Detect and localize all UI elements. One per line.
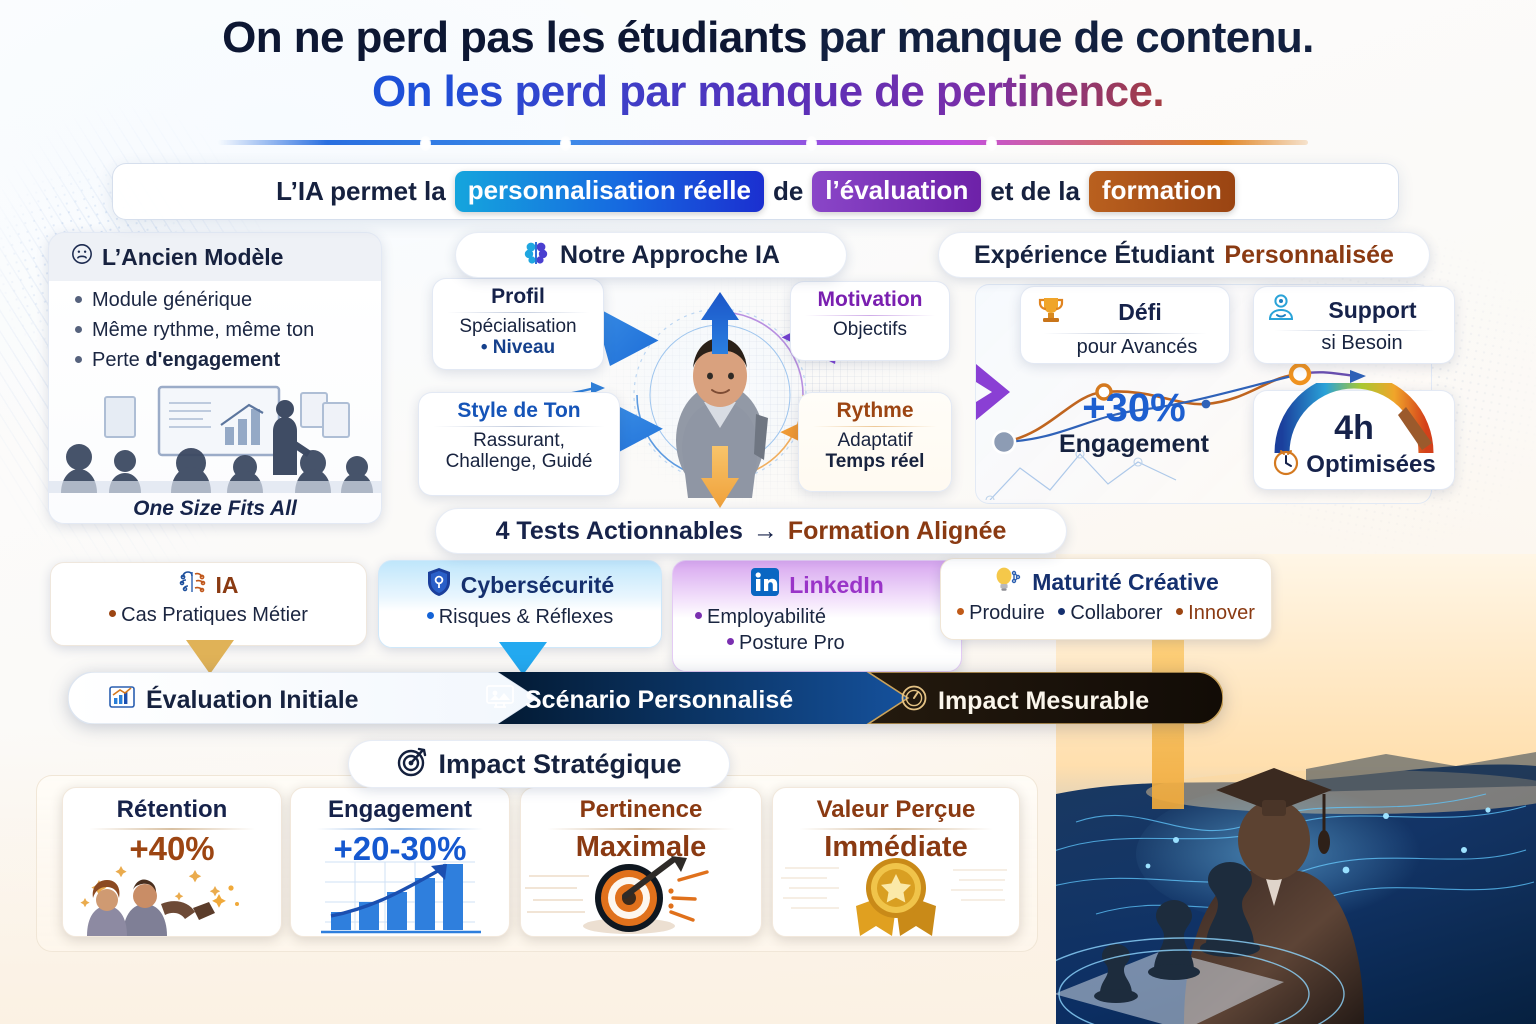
- list-item: Même rythme, même ton: [75, 319, 381, 342]
- approach-card-style-title: Style de Ton: [419, 399, 619, 423]
- kpi-card-valeur: Valeur Perçue Immédiate: [772, 787, 1020, 937]
- domain-card-cybersecurite: Cybersécurité Risques & Réflexes: [378, 560, 662, 648]
- domain-card-maturite-header: Maturité Créative: [941, 565, 1271, 599]
- approach-card-motivation-title: Motivation: [791, 288, 949, 312]
- bullet-dot: [695, 612, 702, 619]
- domain-card-linkedin-item-row-1: Posture Pro: [673, 632, 961, 655]
- old-model-header: L’Ancien Modèle: [49, 233, 381, 281]
- old-model-bullet-2: Perte: [92, 349, 145, 371]
- experience-title-accent: Personnalisée: [1224, 241, 1394, 270]
- target-arrow-art: [521, 854, 761, 936]
- approach-card-rythme-title: Rythme: [799, 399, 951, 423]
- experience-hours-card: 4h Optimisées: [1253, 390, 1455, 490]
- old-model-bullet-0: Module générique: [92, 289, 252, 312]
- tests-banner-pill: 4 Tests Actionnables → Formation Alignée: [435, 508, 1067, 554]
- approach-card-motivation-line-0: Objectifs: [791, 319, 949, 340]
- experience-title-pill: Expérience Étudiant Personnalisée: [938, 232, 1430, 278]
- subtitle-bar: L’IA permet la personnalisation réelle d…: [112, 163, 1399, 220]
- frowning-face-icon: [71, 243, 93, 271]
- subtitle-chip-formation: formation: [1089, 171, 1235, 212]
- experience-engagement-value: +30%: [1020, 388, 1248, 428]
- list-item: Module générique: [75, 289, 381, 312]
- tests-banner-left: 4 Tests Actionnables: [496, 517, 743, 546]
- divider: [1043, 333, 1207, 334]
- kpi-card-pertinence-title: Pertinence: [521, 796, 761, 824]
- kpi-card-valeur-title: Valeur Perçue: [773, 796, 1019, 824]
- approach-card-motivation: Motivation Objectifs: [790, 281, 950, 361]
- headline-line-2: On les perd par manque de pertinence.: [0, 68, 1536, 116]
- shield-icon: [426, 567, 452, 603]
- domain-card-maturite-item-1: Collaborer: [1070, 602, 1162, 624]
- bullet-dot: [75, 296, 82, 303]
- domain-card-maturite-title: Maturité Créative: [1032, 569, 1219, 596]
- approach-card-style-line-0: Rassurant,: [419, 430, 619, 451]
- experience-card-support: Support si Besoin: [1253, 286, 1455, 364]
- domain-card-maturite: Maturité Créative Produire Collaborer In…: [940, 558, 1272, 640]
- divider: [813, 426, 937, 427]
- process-step-scenario-label: Scénario Personnalisé: [525, 686, 793, 715]
- old-model-title: L’Ancien Modèle: [102, 244, 283, 271]
- experience-card-defi: Défi pour Avancés: [1020, 286, 1230, 364]
- domain-card-maturite-items: Produire Collaborer Innover: [941, 602, 1271, 625]
- old-model-bullet-1: Même rythme, même ton: [92, 319, 314, 342]
- bullet-dot: [109, 610, 116, 617]
- domain-card-ia-items: Cas Pratiques Métier: [51, 604, 366, 627]
- domain-card-linkedin-item-0: Employabilité: [707, 606, 826, 628]
- process-step-scenario: Scénario Personnalisé: [485, 684, 793, 717]
- domain-card-cybersecurite-header: Cybersécurité: [379, 567, 661, 603]
- linkedin-icon: [750, 567, 780, 603]
- domain-card-linkedin-title: LinkedIn: [789, 572, 884, 599]
- underline-node-2: [560, 136, 571, 151]
- process-step-impact-label: Impact Mesurable: [938, 687, 1149, 716]
- clock-icon: [1272, 448, 1300, 481]
- process-step-evaluation: Évaluation Initiale: [108, 684, 359, 717]
- experience-card-defi-sub: pour Avancés: [1021, 336, 1229, 359]
- lightbulb-brain-icon: [993, 565, 1023, 599]
- headline-block: On ne perd pas les étudiants par manque …: [0, 14, 1536, 117]
- old-model-caption: One Size Fits All: [49, 497, 381, 521]
- magnet-people-art: [63, 854, 281, 936]
- approach-card-style: Style de Ton Rassurant, Challenge, Guidé: [418, 392, 620, 496]
- bullet-dot: [75, 356, 82, 363]
- domain-card-ia-item-0: Cas Pratiques Métier: [121, 604, 308, 626]
- approach-card-rythme-line-1: Temps réel: [799, 451, 951, 472]
- tests-banner-arrow: →: [753, 517, 778, 546]
- kpi-card-retention-title: Rétention: [63, 796, 281, 824]
- domain-card-ia-header: IA: [51, 569, 366, 601]
- headline-line-1-bold: On ne perd pas les étudiants: [222, 13, 807, 62]
- approach-card-profil-line-1: • Niveau: [433, 337, 603, 358]
- process-step-evaluation-label: Évaluation Initiale: [146, 686, 359, 715]
- underline-node-4: [986, 136, 997, 151]
- experience-hours-value: 4h: [1254, 409, 1454, 448]
- bullet-dot: [1058, 608, 1065, 615]
- underline-node-3: [806, 136, 817, 151]
- experience-title-plain: Expérience Étudiant: [974, 241, 1214, 270]
- divider: [799, 828, 993, 830]
- underline-node-1: [420, 136, 431, 151]
- domain-card-maturite-item-2: Innover: [1188, 602, 1255, 624]
- old-model-bullet-2-bold: d'engagement: [145, 349, 280, 371]
- kpi-card-retention: Rétention +40%: [62, 787, 282, 937]
- target-icon: [396, 746, 428, 783]
- brain-circuit-icon: [179, 569, 207, 601]
- subtitle-chip-evaluation: l’évaluation: [812, 171, 981, 212]
- domain-card-linkedin-item-1: Posture Pro: [739, 632, 845, 654]
- gauge-icon: [900, 684, 928, 719]
- approach-card-profil: Profil Spécialisation • Niveau: [432, 278, 604, 370]
- approach-title-pill: Notre Approche IA: [455, 232, 847, 278]
- subtitle-part-2: de: [773, 176, 803, 207]
- divider: [1274, 330, 1434, 331]
- approach-card-rythme-line-0: Adaptatif: [799, 430, 951, 451]
- approach-title: Notre Approche IA: [560, 241, 780, 270]
- domain-card-cybersecurite-title: Cybersécurité: [461, 572, 614, 599]
- subtitle-part-1: L’IA permet la: [276, 176, 446, 207]
- old-model-panel: L’Ancien Modèle Module générique Même ry…: [48, 232, 382, 524]
- domain-card-ia: IA Cas Pratiques Métier: [50, 562, 367, 646]
- purple-chevron-arrow: [972, 362, 1014, 422]
- subtitle-part-3: et de la: [990, 176, 1080, 207]
- domain-card-maturite-item-0: Produire: [969, 602, 1045, 624]
- domain-card-cybersecurite-item-0: Risques & Réflexes: [439, 606, 614, 628]
- divider: [547, 828, 735, 830]
- growth-bars-art: [291, 854, 509, 936]
- domain-card-linkedin-header: LinkedIn: [673, 567, 961, 603]
- experience-card-support-sub: si Besoin: [1254, 332, 1454, 355]
- bullet-dot: [75, 326, 82, 333]
- experience-hours-label: Optimisées: [1306, 451, 1435, 479]
- approach-card-rythme: Rythme Adaptatif Temps réel: [798, 392, 952, 492]
- approach-card-style-line-1: Challenge, Guidé: [419, 451, 619, 472]
- bullet-dot: [727, 638, 734, 645]
- headline-gradient-underline: [218, 140, 1308, 145]
- experience-card-support-title: Support: [1305, 297, 1454, 324]
- monitor-icon: [485, 684, 515, 717]
- bullet-dot: [1176, 608, 1183, 615]
- headline-line-1: On ne perd pas les étudiants par manque …: [0, 14, 1536, 62]
- list-item: Perte d'engagement: [75, 349, 381, 372]
- approach-card-profil-title: Profil: [433, 285, 603, 309]
- brain-icon: [522, 239, 550, 272]
- divider: [805, 315, 935, 316]
- subtitle-chip-personnalisation: personnalisation réelle: [455, 171, 764, 212]
- process-step-impact: Impact Mesurable: [900, 684, 1149, 719]
- impact-title: Impact Stratégique: [438, 749, 681, 780]
- experience-engagement-label: Engagement: [1020, 430, 1248, 459]
- divider: [433, 426, 605, 427]
- infographic-canvas: On ne perd pas les étudiants par manque …: [0, 0, 1536, 1024]
- domain-card-linkedin: LinkedIn Employabilité Posture Pro: [672, 560, 962, 672]
- domain-card-ia-title: IA: [216, 572, 239, 599]
- impact-title-pill: Impact Stratégique: [348, 740, 730, 788]
- headline-line-1-rest: par manque de contenu.: [807, 13, 1314, 62]
- approach-card-profil-line-0: Spécialisation: [433, 316, 603, 337]
- bullet-dot: [957, 608, 964, 615]
- bar-chart-icon: [108, 684, 136, 717]
- tests-banner-right: Formation Alignée: [788, 517, 1007, 546]
- support-agent-icon: [1266, 293, 1296, 328]
- kpi-card-pertinence: Pertinence Maximale: [520, 787, 762, 937]
- experience-card-defi-title: Défi: [1077, 299, 1229, 326]
- divider: [447, 312, 589, 313]
- domain-card-linkedin-item-row-0: Employabilité: [673, 606, 961, 629]
- kpi-card-engagement: Engagement +20-30%: [290, 787, 510, 937]
- classroom-illustration: [49, 383, 381, 493]
- award-ribbon-art: [773, 854, 1019, 936]
- experience-engagement-stat: +30% Engagement: [1020, 388, 1248, 484]
- old-model-bullet-list: Module générique Même rythme, même ton P…: [49, 289, 381, 372]
- trophy-icon: [1035, 294, 1067, 331]
- bullet-dot: [427, 612, 434, 619]
- kpi-card-engagement-title: Engagement: [291, 796, 509, 824]
- domain-card-cybersecurite-items: Risques & Réflexes: [379, 606, 661, 629]
